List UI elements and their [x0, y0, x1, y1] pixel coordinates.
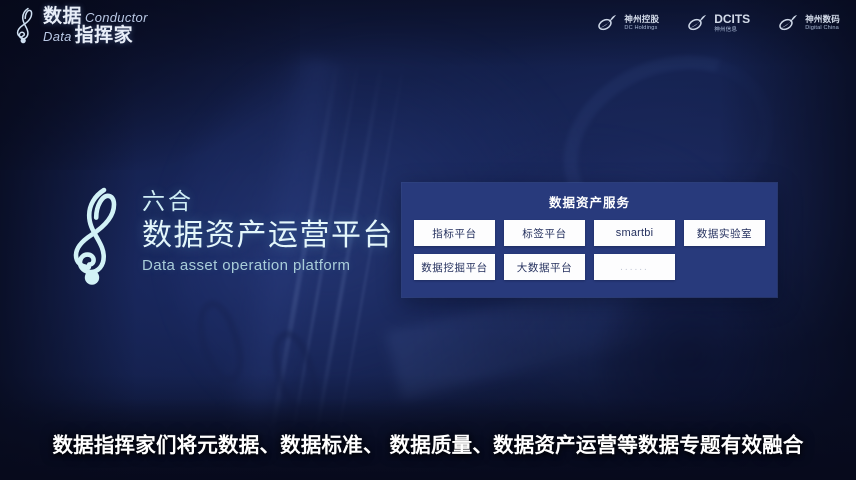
- service-card-biaoqian-pingtai[interactable]: 标签平台: [504, 220, 585, 246]
- service-card-more[interactable]: ......: [594, 254, 675, 280]
- service-card-shuju-wajue-pingtai[interactable]: 数据挖掘平台: [414, 254, 495, 280]
- swoosh-logo-mark-icon: [778, 12, 800, 34]
- hero-title: 数据资产运营平台: [142, 218, 394, 253]
- brand-en-data: Data: [43, 30, 72, 43]
- service-card-zhibiao-pingtai[interactable]: 指标平台: [414, 220, 495, 246]
- partner-logo-dc-holdings: 神州控股 DC Holdings: [597, 12, 659, 34]
- brand-line-1: 数据 Conductor: [43, 7, 148, 26]
- brand-logo: 数据 Conductor Data 指挥家: [14, 6, 148, 46]
- brand-en-conductor: Conductor: [85, 11, 148, 24]
- partner-name-cn: DCITS: [714, 13, 750, 26]
- partner-logo-row: 神州控股 DC Holdings DCITS 神州信息: [597, 12, 840, 34]
- partner-label: DCITS 神州信息: [714, 13, 750, 33]
- service-card-dashuju-pingtai[interactable]: 大数据平台: [504, 254, 585, 280]
- treble-clef-icon: [14, 6, 40, 46]
- hero-kicker: 六合: [142, 182, 394, 216]
- brand-cn-secondary: 指挥家: [75, 26, 134, 45]
- partner-label: 神州数码 Digital China: [805, 15, 840, 31]
- slide-canvas: 数据 Conductor Data 指挥家 神州控股 DC Holdings: [0, 0, 856, 480]
- panel-title: 数据资产服务: [402, 192, 777, 211]
- service-card-shujushiyanshi[interactable]: 数据实验室: [684, 220, 765, 246]
- data-asset-service-panel: 数据资产服务 指标平台 标签平台 smartbi 数据实验室 数据挖掘平台 大数…: [402, 183, 777, 297]
- partner-logo-digital-china: 神州数码 Digital China: [778, 12, 840, 34]
- swoosh-logo-mark-icon: [687, 12, 709, 34]
- clef-dot: [21, 38, 26, 43]
- slide-header: 数据 Conductor Data 指挥家 神州控股 DC Holdings: [0, 0, 856, 52]
- partner-label: 神州控股 DC Holdings: [624, 15, 659, 31]
- partner-name-cn: 神州控股: [624, 15, 659, 25]
- brand-line-2: Data 指挥家: [43, 26, 148, 45]
- brand-wordmark: 数据 Conductor Data 指挥家: [43, 7, 148, 46]
- partner-name-en: 神州信息: [714, 27, 750, 33]
- partner-name-en: Digital China: [805, 25, 840, 31]
- treble-clef-icon: [68, 184, 130, 292]
- partner-logo-dcits: DCITS 神州信息: [687, 12, 750, 34]
- subtitle-caption: 数据指挥家们将元数据、数据标准、 数据质量、数据资产运营等数据专题有效融合: [0, 428, 856, 458]
- hero-title-block: 六合 数据资产运营平台 Data asset operation platfor…: [68, 182, 394, 292]
- clef-dot: [85, 270, 99, 284]
- partner-name-en: DC Holdings: [624, 25, 659, 31]
- hero-text-group: 六合 数据资产运营平台 Data asset operation platfor…: [142, 182, 394, 274]
- service-card-smartbi[interactable]: smartbi: [594, 220, 675, 246]
- swoosh-logo-mark-icon: [597, 12, 619, 34]
- hero-subtitle: Data asset operation platform: [142, 257, 394, 274]
- partner-name-cn: 神州数码: [805, 15, 840, 25]
- service-card-grid: 指标平台 标签平台 smartbi 数据实验室 数据挖掘平台 大数据平台 ...…: [414, 220, 765, 280]
- brand-cn-primary: 数据: [43, 7, 82, 26]
